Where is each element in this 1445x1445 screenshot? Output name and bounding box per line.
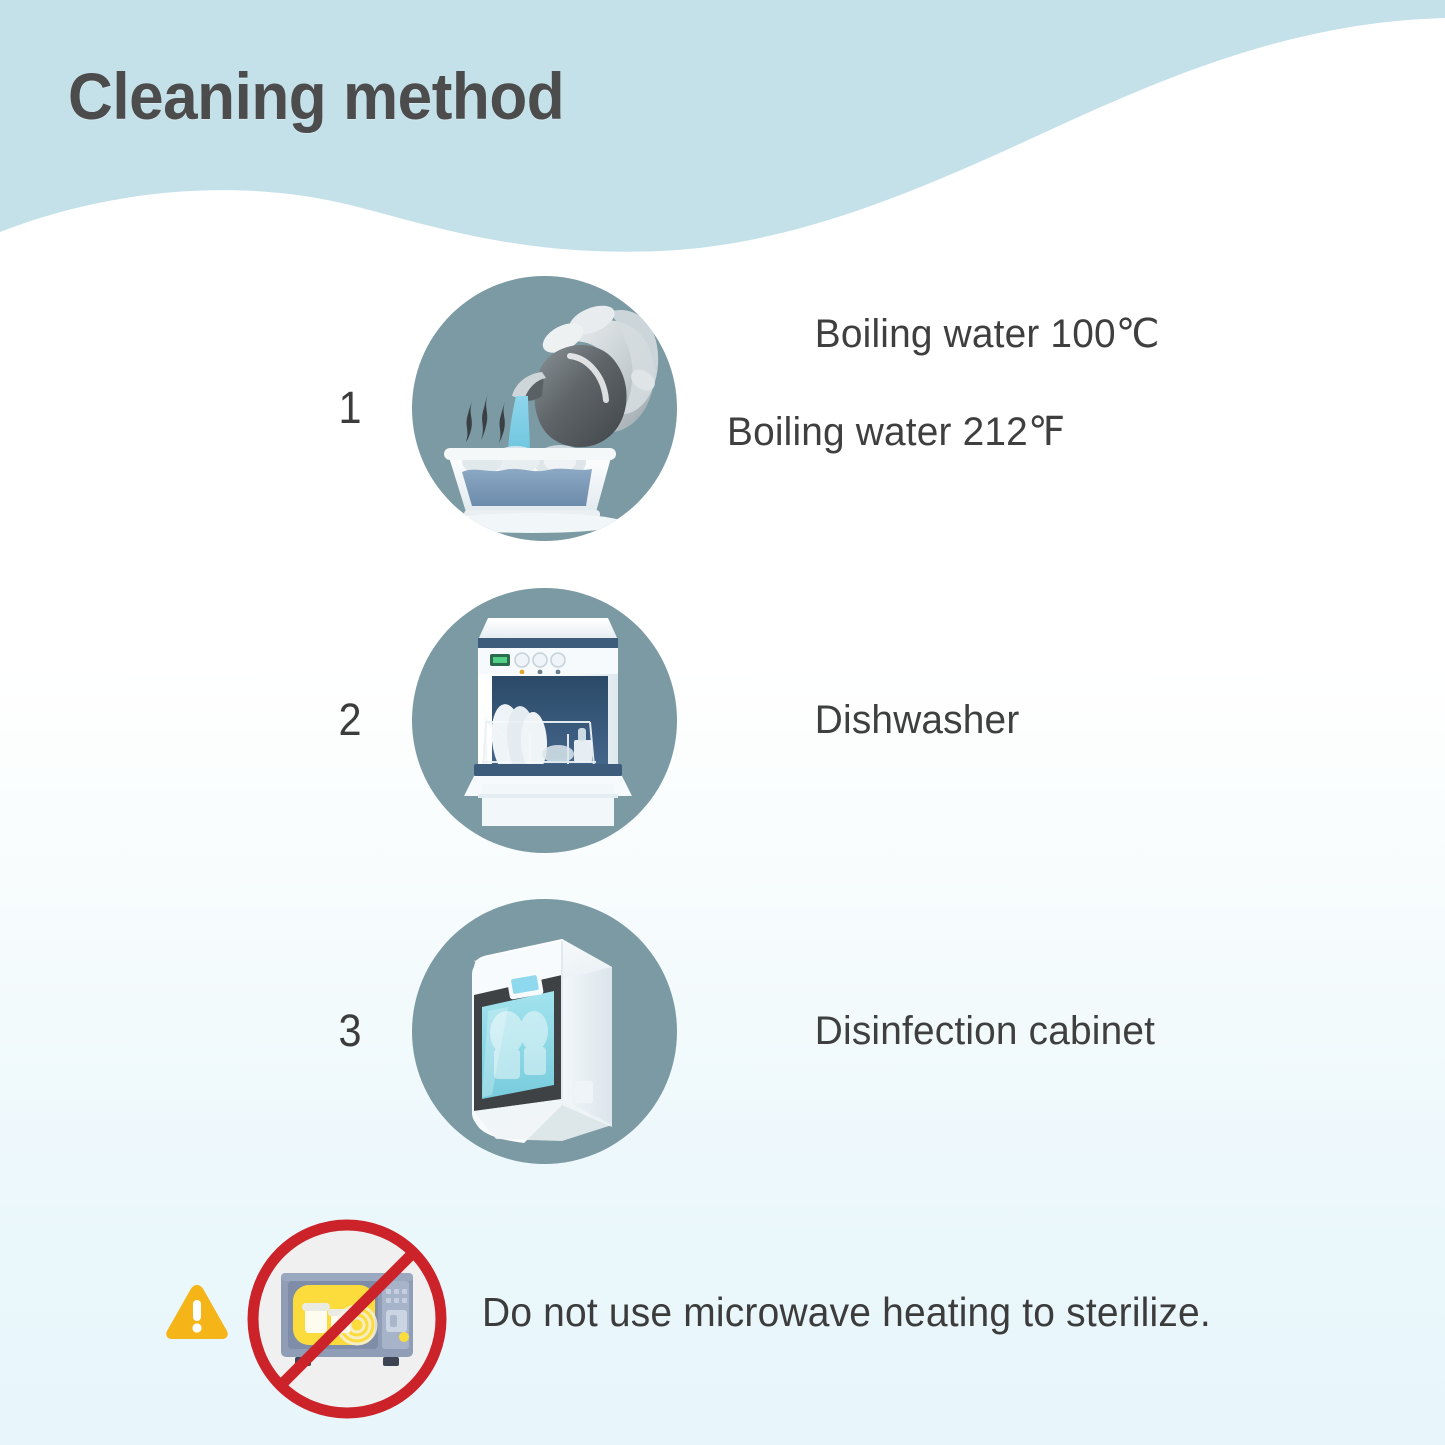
- step-label-3-line1: Disinfection cabinet: [815, 1009, 1155, 1053]
- step-number-1: 1: [313, 382, 387, 434]
- step-number-2: 2: [313, 694, 387, 746]
- step-row-1: 1: [0, 273, 1445, 543]
- kettle-pouring-boiling-water-icon: [412, 276, 677, 541]
- step-row-3: 3: [0, 896, 1445, 1166]
- step-label-2-line1: Dishwasher: [815, 698, 1020, 742]
- step-label-2: Dishwasher: [727, 647, 1019, 794]
- warning-triangle-icon: [163, 1281, 231, 1343]
- step-label-1-line1: Boiling water 100℃: [815, 312, 1160, 356]
- step-number-3: 3: [313, 1005, 387, 1057]
- disinfection-cabinet-icon: [412, 899, 677, 1164]
- warning-text: Do not use microwave heating to steriliz…: [482, 1289, 1211, 1336]
- infographic-page: Cleaning method 1: [0, 0, 1445, 1445]
- dishwasher-icon: [412, 588, 677, 853]
- step-row-2: 2: [0, 585, 1445, 855]
- step-label-1: Boiling water 100℃ Boiling water 212℉: [727, 261, 1160, 555]
- step-label-3: Disinfection cabinet: [727, 958, 1155, 1105]
- step-label-1-line2: Boiling water 212℉: [727, 408, 1160, 457]
- no-microwave-icon: [243, 1215, 451, 1423]
